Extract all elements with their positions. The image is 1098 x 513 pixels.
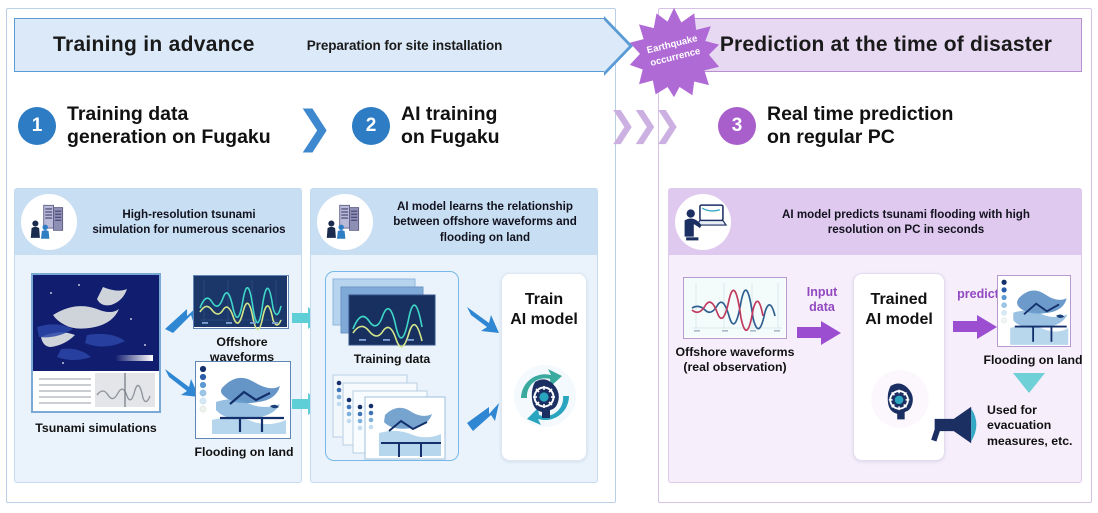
- step-3-badge: 3: [718, 107, 756, 145]
- caption-training-data: Training data: [329, 352, 455, 367]
- megaphone-icon: [931, 405, 987, 445]
- supercomputer-icon: [317, 194, 373, 250]
- step-1-label: Training data generation on Fugaku: [67, 103, 271, 149]
- arrow-down-to-evacuation-icon: [1013, 373, 1047, 395]
- panel-1-header-text: High-resolution tsunami simulation for n…: [77, 207, 301, 238]
- right-banner: Prediction at the time of disaster: [690, 18, 1082, 72]
- train-ai-model-card: Train AI model: [501, 273, 587, 461]
- left-banner-title: Training in advance: [53, 33, 255, 57]
- starburst-icon: [628, 6, 720, 98]
- supercomputer-icon: [21, 194, 77, 250]
- person-at-pc-icon: [675, 194, 731, 250]
- left-banner: Training in advance Preparation for site…: [14, 18, 606, 72]
- step-2-header: 2 AI training on Fugaku: [352, 103, 500, 149]
- caption-tsunami-simulations: Tsunami simulations: [25, 421, 167, 436]
- real-observation-waveform-thumbnail: [683, 277, 787, 339]
- arrow-predict-icon: [953, 313, 999, 341]
- step-3-label: Real time prediction on regular PC: [767, 103, 953, 149]
- predicted-flooding-thumbnail: [997, 275, 1071, 347]
- trained-ai-model-title: Trained AI model: [854, 290, 944, 330]
- panel-2-header-text: AI model learns the relationship between…: [373, 199, 597, 245]
- step-3-header: 3 Real time prediction on regular PC: [718, 103, 953, 149]
- label-input-data: Input data: [795, 285, 849, 315]
- left-banner-subtitle: Preparation for site installation: [307, 38, 503, 53]
- section-chevron-icon: ❯❯❯: [608, 108, 675, 142]
- right-banner-title: Prediction at the time of disaster: [720, 33, 1052, 57]
- arrow-training-to-model-top-icon: [465, 303, 501, 337]
- step-2-label: AI training on Fugaku: [401, 103, 500, 149]
- tsunami-simulation-thumbnail: [31, 273, 161, 413]
- ai-head-gear-icon: [511, 352, 579, 438]
- panel-training-data-generation: High-resolution tsunami simulation for n…: [14, 188, 302, 483]
- offshore-waveform-thumbnail: [193, 275, 289, 329]
- earthquake-starburst: Earthquake occurrence: [628, 6, 720, 98]
- panel-2-header: AI model learns the relationship between…: [311, 189, 597, 255]
- panel-3-header-text: AI model predicts tsunami flooding with …: [731, 207, 1081, 238]
- step-chevron-icon: ❯: [296, 106, 333, 150]
- step-1-header: 1 Training data generation on Fugaku: [18, 103, 271, 149]
- step-2-badge: 2: [352, 107, 390, 145]
- train-ai-model-title: Train AI model: [502, 290, 586, 330]
- panel-3-header: AI model predicts tsunami flooding with …: [669, 189, 1081, 255]
- training-data-waveform-stack: [333, 277, 453, 349]
- caption-predicted-flooding: Flooding on land: [981, 353, 1085, 368]
- ai-head-gear-icon: [868, 358, 932, 438]
- panel-real-time-prediction: AI model predicts tsunami flooding with …: [668, 188, 1082, 483]
- caption-flooding-on-land: Flooding on land: [185, 445, 303, 460]
- flooding-on-land-thumbnail: [195, 361, 291, 439]
- training-data-flooding-stack: [333, 375, 455, 459]
- panel-ai-training: AI model learns the relationship between…: [310, 188, 598, 483]
- caption-offshore-waveforms-real: Offshore waveforms (real observation): [673, 345, 797, 376]
- step-1-badge: 1: [18, 107, 56, 145]
- panel-1-header: High-resolution tsunami simulation for n…: [15, 189, 301, 255]
- arrow-input-data-icon: [797, 319, 843, 347]
- arrow-training-to-model-bottom-icon: [465, 401, 501, 435]
- caption-evacuation-use: Used for evacuation measures, etc.: [987, 403, 1083, 449]
- left-banner-arrow-fill: [604, 20, 629, 72]
